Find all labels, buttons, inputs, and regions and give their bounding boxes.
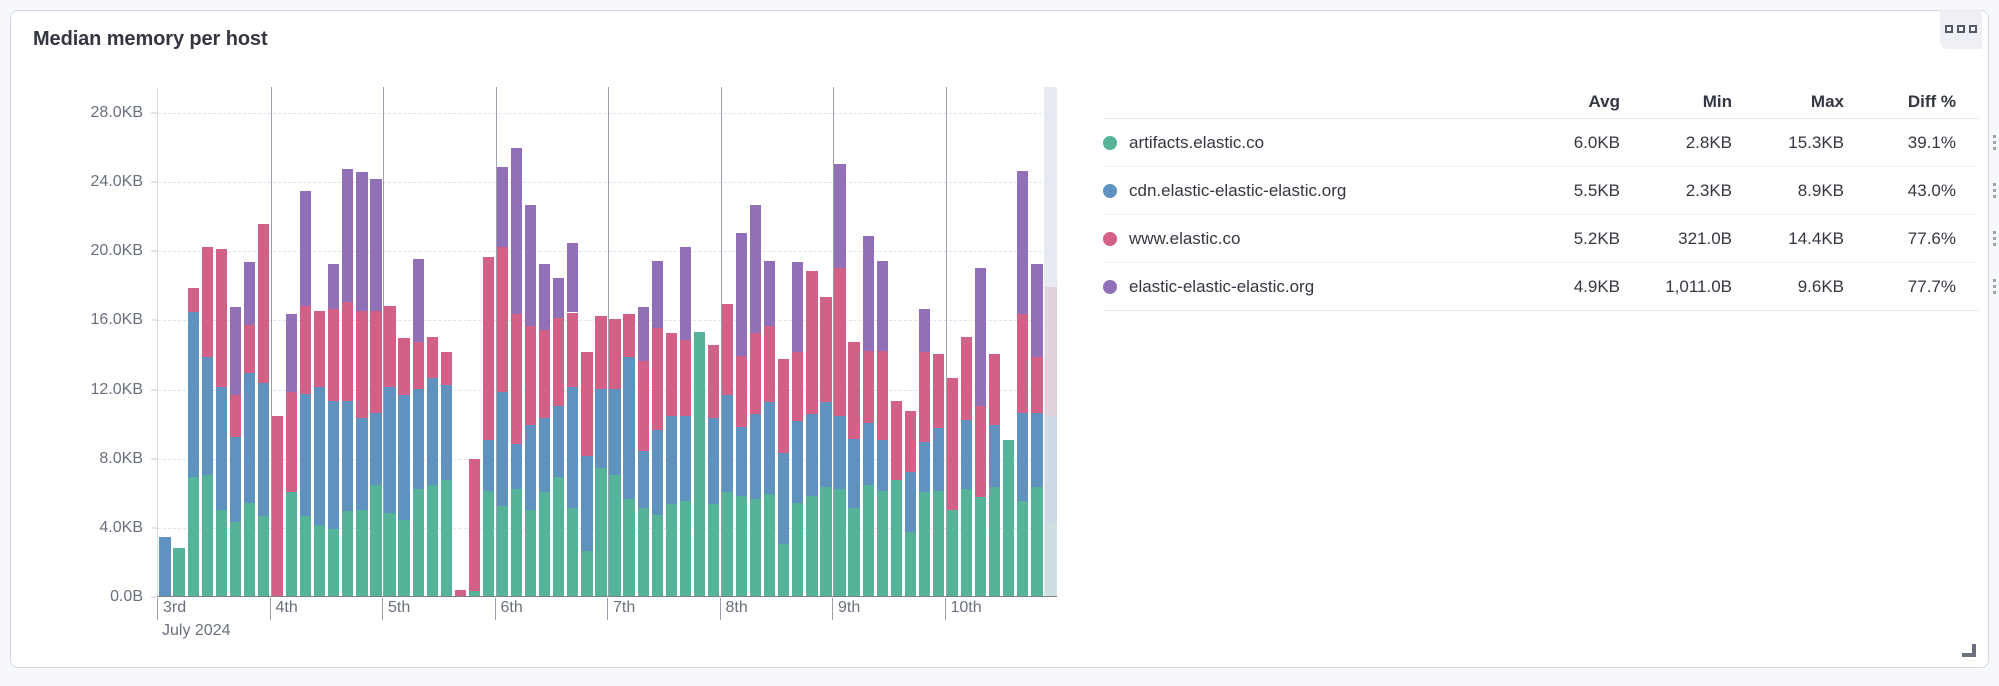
bar-segment[interactable] [202, 475, 213, 596]
bar-segment[interactable] [413, 342, 424, 389]
bar-stack[interactable] [1003, 440, 1014, 596]
bar-segment[interactable] [722, 395, 733, 492]
bar-stack[interactable] [792, 262, 803, 596]
bar-segment[interactable] [919, 442, 930, 492]
legend-series-label: elastic-elastic-elastic.org [1129, 277, 1314, 297]
bar-stack[interactable] [539, 264, 550, 596]
bar-stack[interactable] [441, 352, 452, 596]
bar-stack[interactable] [750, 205, 761, 596]
bar-stack[interactable] [595, 316, 606, 596]
bar-stack[interactable] [736, 233, 747, 596]
bar-segment[interactable] [539, 492, 550, 596]
bar-segment[interactable] [834, 164, 845, 268]
bar-segment[interactable] [497, 392, 508, 506]
bar-segment[interactable] [919, 309, 930, 352]
legend-series-name-cell[interactable]: cdn.elastic-elastic-elastic.org [1103, 181, 1508, 201]
bar-segment[interactable] [553, 278, 564, 318]
legend-row[interactable]: www.elastic.co5.2KB321.0B14.4KB77.6% [1103, 215, 1978, 263]
legend-row-grip-cell [1956, 182, 1999, 200]
legend-row[interactable]: artifacts.elastic.co6.0KB2.8KB15.3KB39.1… [1103, 119, 1978, 167]
bar-segment[interactable] [750, 499, 761, 596]
bar-stack[interactable] [427, 337, 438, 596]
series-color-dot-icon [1103, 280, 1117, 294]
bar-segment[interactable] [891, 401, 902, 481]
legend-series-name-cell[interactable]: www.elastic.co [1103, 229, 1508, 249]
bar-segment[interactable] [638, 508, 649, 596]
bar-segment[interactable] [511, 489, 522, 596]
bar-stack[interactable] [455, 590, 466, 596]
bar-segment[interactable] [989, 354, 1000, 425]
bar-segment[interactable] [567, 508, 578, 596]
bar-segment[interactable] [483, 440, 494, 490]
bar-segment[interactable] [792, 262, 803, 352]
bar-stack[interactable] [919, 309, 930, 596]
bar-segment[interactable] [286, 392, 297, 492]
bar-stack[interactable] [244, 262, 255, 596]
bar-segment[interactable] [539, 418, 550, 492]
bar-segment[interactable] [623, 314, 634, 357]
bar-stack[interactable] [877, 261, 888, 596]
bar-segment[interactable] [553, 406, 564, 477]
bar-stack[interactable] [272, 416, 283, 596]
bar-segment[interactable] [216, 249, 227, 387]
legend-header-max[interactable]: Max [1732, 92, 1844, 112]
bar-stack[interactable] [989, 354, 1000, 596]
bar-segment[interactable] [511, 444, 522, 489]
resize-corner-icon[interactable] [1962, 643, 1976, 657]
bar-stack[interactable] [933, 354, 944, 596]
bar-stack[interactable] [384, 306, 395, 596]
bar-segment[interactable] [623, 499, 634, 596]
bar-segment[interactable] [975, 406, 986, 498]
stacked-bar-chart[interactable]: 28.0KB24.0KB20.0KB16.0KB12.0KB8.0KB4.0KB… [29, 67, 1079, 647]
bar-segment[interactable] [497, 506, 508, 596]
bar-segment[interactable] [511, 148, 522, 314]
bar-stack[interactable] [609, 319, 620, 596]
bar-segment[interactable] [961, 420, 972, 489]
bar-segment[interactable] [863, 351, 874, 424]
legend-table-header: Avg Min Max Diff % [1103, 83, 1978, 119]
bar-segment[interactable] [638, 307, 649, 361]
bar-segment[interactable] [525, 326, 536, 425]
bar-segment[interactable] [764, 494, 775, 596]
bar-stack[interactable] [328, 264, 339, 596]
bar-stack[interactable] [623, 314, 634, 596]
bar-segment[interactable] [947, 378, 958, 509]
bar-segment[interactable] [609, 319, 620, 388]
bar-segment[interactable] [863, 485, 874, 596]
drag-handle-icon[interactable] [1993, 279, 1999, 294]
bar-segment[interactable] [863, 236, 874, 350]
bar-stack[interactable] [1031, 264, 1042, 596]
bar-stack[interactable] [975, 268, 986, 596]
bar-stack[interactable] [188, 288, 199, 596]
bar-segment[interactable] [666, 416, 677, 504]
bar-stack[interactable] [848, 342, 859, 596]
bar-segment[interactable] [905, 411, 916, 472]
bar-stack[interactable] [722, 304, 733, 596]
bar-segment[interactable] [609, 389, 620, 475]
bar-stack[interactable] [356, 172, 367, 596]
legend-row-grip-cell [1956, 278, 1999, 296]
bar-segment[interactable] [370, 311, 381, 413]
y-axis-tick-label: 0.0B [110, 588, 143, 606]
bar-segment[interactable] [975, 497, 986, 596]
bar-segment[interactable] [300, 191, 311, 305]
bar-segment[interactable] [314, 387, 325, 525]
bar-segment[interactable] [427, 337, 438, 378]
bar-segment[interactable] [877, 351, 888, 441]
bar-segment[interactable] [328, 529, 339, 596]
legend-header-min[interactable]: Min [1620, 92, 1732, 112]
bar-segment[interactable] [427, 378, 438, 485]
bar-segment[interactable] [286, 492, 297, 596]
bar-segment[interactable] [525, 205, 536, 326]
bar-segment[interactable] [370, 485, 381, 596]
legend-cell-diff: 77.7% [1844, 277, 1956, 297]
bar-segment[interactable] [750, 333, 761, 414]
bar-segment[interactable] [1031, 357, 1042, 412]
bar-segment[interactable] [230, 395, 241, 436]
drag-handle-icon[interactable] [1993, 231, 1999, 246]
bar-segment[interactable] [834, 416, 845, 489]
bar-stack[interactable] [820, 297, 831, 596]
bar-segment[interactable] [328, 264, 339, 309]
bar-stack[interactable] [342, 169, 353, 596]
bar-segment[interactable] [497, 247, 508, 392]
bar-stack[interactable] [258, 224, 269, 596]
bar-segment[interactable] [680, 340, 691, 416]
bar-segment[interactable] [764, 402, 775, 494]
bar-segment[interactable] [553, 477, 564, 596]
bar-segment[interactable] [356, 418, 367, 510]
bar-segment[interactable] [806, 414, 817, 495]
bar-segment[interactable] [666, 333, 677, 416]
drag-handle-icon[interactable] [1993, 135, 1999, 150]
bar-segment[interactable] [497, 167, 508, 247]
bar-segment[interactable] [891, 480, 902, 596]
bar-segment[interactable] [328, 401, 339, 529]
bar-segment[interactable] [539, 330, 550, 418]
bar-segment[interactable] [258, 516, 269, 596]
bar-segment[interactable] [1017, 171, 1028, 314]
y-axis-tick-label: 8.0KB [99, 450, 143, 468]
bar-stack[interactable] [216, 249, 227, 596]
bar-segment[interactable] [877, 261, 888, 351]
bar-segment[interactable] [1031, 487, 1042, 596]
bar-stack[interactable] [230, 307, 241, 596]
bar-segment[interactable] [427, 485, 438, 596]
bar-stack[interactable] [778, 359, 789, 596]
bar-segment[interactable] [919, 352, 930, 442]
bar-segment[interactable] [1031, 413, 1042, 487]
bar-segment[interactable] [244, 262, 255, 324]
bar-segment[interactable] [441, 352, 452, 385]
bar-segment[interactable] [989, 425, 1000, 487]
bar-stack[interactable] [581, 352, 592, 596]
bar-segment[interactable] [286, 314, 297, 392]
legend-row[interactable]: elastic-elastic-elastic.org4.9KB1,011.0B… [1103, 263, 1978, 311]
bar-segment[interactable] [877, 491, 888, 596]
bar-segment[interactable] [567, 387, 578, 508]
bar-stack[interactable] [567, 243, 578, 596]
bar-segment[interactable] [736, 233, 747, 356]
bar-segment[interactable] [455, 590, 466, 596]
bar-segment[interactable] [1017, 314, 1028, 413]
bar-segment[interactable] [638, 361, 649, 451]
bar-segment[interactable] [750, 205, 761, 333]
bar-segment[interactable] [384, 513, 395, 596]
plot-area[interactable] [157, 87, 1057, 597]
bar-segment[interactable] [342, 511, 353, 596]
bar-segment[interactable] [216, 387, 227, 510]
bar-stack[interactable] [947, 378, 958, 596]
bar-stack[interactable] [806, 271, 817, 596]
bar-segment[interactable] [736, 427, 747, 496]
bar-segment[interactable] [173, 548, 184, 596]
bar-segment[interactable] [413, 389, 424, 489]
bar-segment[interactable] [370, 179, 381, 310]
bar-segment[interactable] [272, 416, 283, 596]
legend-header-avg[interactable]: Avg [1508, 92, 1620, 112]
bar-segment[interactable] [778, 359, 789, 452]
bar-segment[interactable] [652, 515, 663, 596]
bar-segment[interactable] [694, 332, 705, 597]
legend-header-diff[interactable]: Diff % [1844, 92, 1956, 112]
bar-segment[interactable] [820, 402, 831, 487]
bar-segment[interactable] [834, 489, 845, 596]
legend-series-name-cell[interactable]: artifacts.elastic.co [1103, 133, 1508, 153]
bar-segment[interactable] [314, 311, 325, 387]
bar-stack[interactable] [497, 167, 508, 596]
bar-segment[interactable] [202, 357, 213, 475]
legend-cell-avg: 5.5KB [1508, 181, 1620, 201]
bar-segment[interactable] [905, 472, 916, 533]
bar-segment[interactable] [652, 261, 663, 328]
bar-stack[interactable] [680, 247, 691, 596]
bar-segment[interactable] [877, 440, 888, 490]
bar-segment[interactable] [595, 389, 606, 469]
bar-stack[interactable] [1017, 171, 1028, 596]
bar-segment[interactable] [567, 243, 578, 312]
bar-segment[interactable] [398, 520, 409, 596]
bar-segment[interactable] [356, 172, 367, 310]
bar-segment[interactable] [722, 492, 733, 596]
bar-segment[interactable] [820, 487, 831, 596]
bar-segment[interactable] [356, 510, 367, 596]
bar-segment[interactable] [778, 453, 789, 545]
bar-segment[interactable] [188, 312, 199, 476]
bar-segment[interactable] [441, 385, 452, 480]
bar-segment[interactable] [384, 306, 395, 387]
bar-segment[interactable] [370, 413, 381, 486]
bar-stack[interactable] [553, 278, 564, 596]
bar-segment[interactable] [736, 496, 747, 596]
bar-segment[interactable] [863, 423, 874, 485]
bar-segment[interactable] [1017, 413, 1028, 501]
bar-segment[interactable] [623, 357, 634, 499]
drag-handle-icon[interactable] [1993, 183, 1999, 198]
bar-segment[interactable] [441, 480, 452, 596]
legend-cell-min: 1,011.0B [1620, 277, 1732, 297]
bar-segment[interactable] [961, 489, 972, 596]
bar-stack[interactable] [863, 236, 874, 596]
bar-segment[interactable] [933, 354, 944, 428]
bar-segment[interactable] [159, 537, 170, 596]
bar-segment[interactable] [750, 414, 761, 499]
bar-stack[interactable] [370, 179, 381, 596]
bar-segment[interactable] [511, 314, 522, 444]
bar-segment[interactable] [188, 288, 199, 312]
bar-stack[interactable] [708, 345, 719, 596]
bar-segment[interactable] [384, 387, 395, 513]
bar-segment[interactable] [919, 492, 930, 596]
bar-stack[interactable] [666, 333, 677, 596]
bar-stack[interactable] [314, 311, 325, 596]
bar-segment[interactable] [483, 257, 494, 440]
bar-segment[interactable] [595, 316, 606, 389]
bar-segment[interactable] [652, 430, 663, 515]
bar-segment[interactable] [1017, 501, 1028, 596]
bar-segment[interactable] [398, 338, 409, 395]
bar-stack[interactable] [764, 261, 775, 596]
bar-segment[interactable] [680, 501, 691, 596]
bar-segment[interactable] [413, 259, 424, 342]
bar-segment[interactable] [609, 475, 620, 596]
bar-segment[interactable] [848, 439, 859, 508]
bar-segment[interactable] [933, 428, 944, 490]
bar-segment[interactable] [708, 345, 719, 418]
bar-segment[interactable] [581, 551, 592, 596]
day-separator [271, 87, 272, 596]
bar-stack[interactable] [694, 332, 705, 597]
bar-segment[interactable] [244, 373, 255, 503]
bar-stack[interactable] [638, 307, 649, 596]
bar-segment[interactable] [230, 437, 241, 522]
bar-segment[interactable] [638, 451, 649, 508]
bar-segment[interactable] [413, 489, 424, 596]
bar-segment[interactable] [216, 510, 227, 596]
panel-header: Median memory per host [11, 11, 1988, 67]
bar-segment[interactable] [483, 491, 494, 596]
bar-stack[interactable] [834, 164, 845, 596]
bar-segment[interactable] [1003, 440, 1014, 596]
bar-segment[interactable] [567, 313, 578, 387]
bar-stack[interactable] [511, 148, 522, 596]
bar-segment[interactable] [300, 306, 311, 394]
bar-segment[interactable] [553, 318, 564, 406]
bar-segment[interactable] [792, 503, 803, 596]
bar-segment[interactable] [314, 525, 325, 596]
bar-segment[interactable] [708, 504, 719, 596]
legend-series-label: www.elastic.co [1129, 229, 1240, 249]
bar-segment[interactable] [680, 416, 691, 501]
bar-segment[interactable] [1031, 264, 1042, 357]
bar-segment[interactable] [230, 307, 241, 395]
bar-segment[interactable] [230, 522, 241, 596]
bar-segment[interactable] [848, 508, 859, 596]
bar-segment[interactable] [652, 328, 663, 430]
legend-row[interactable]: cdn.elastic-elastic-elastic.org5.5KB2.3K… [1103, 167, 1978, 215]
bar-segment[interactable] [989, 487, 1000, 596]
bar-stack[interactable] [905, 411, 916, 596]
bar-segment[interactable] [469, 459, 480, 590]
bar-segment[interactable] [525, 425, 536, 510]
bar-segment[interactable] [300, 394, 311, 517]
x-axis-tick-label: 7th [607, 598, 635, 620]
bar-segment[interactable] [947, 510, 958, 596]
bar-stack[interactable] [398, 338, 409, 596]
bar-segment[interactable] [595, 468, 606, 596]
bar-stack[interactable] [413, 259, 424, 596]
bar-stack[interactable] [159, 537, 170, 596]
bar-segment[interactable] [342, 169, 353, 302]
bar-segment[interactable] [933, 491, 944, 596]
bar-segment[interactable] [581, 456, 592, 551]
bar-stack[interactable] [525, 205, 536, 596]
bar-segment[interactable] [806, 496, 817, 596]
bar-segment[interactable] [469, 591, 480, 596]
bar-segment[interactable] [975, 268, 986, 406]
bar-stack[interactable] [469, 459, 480, 596]
bar-segment[interactable] [244, 503, 255, 596]
bar-segment[interactable] [905, 532, 916, 596]
legend-row-grip-cell [1956, 230, 1999, 248]
bar-segment[interactable] [834, 268, 845, 417]
bar-segment[interactable] [820, 297, 831, 402]
bar-segment[interactable] [848, 342, 859, 439]
bar-segment[interactable] [539, 264, 550, 330]
bar-stack[interactable] [891, 401, 902, 596]
bar-segment[interactable] [300, 516, 311, 596]
bar-segment[interactable] [792, 421, 803, 502]
bar-segment[interactable] [680, 247, 691, 340]
bar-segment[interactable] [328, 309, 339, 401]
bar-segment[interactable] [356, 311, 367, 418]
bar-segment[interactable] [722, 304, 733, 396]
bar-stack[interactable] [300, 191, 311, 596]
bar-segment[interactable] [258, 224, 269, 383]
bar-segment[interactable] [806, 271, 817, 414]
bar-segment[interactable] [764, 261, 775, 327]
bar-segment[interactable] [342, 401, 353, 512]
bar-segment[interactable] [398, 395, 409, 519]
bar-stack[interactable] [652, 261, 663, 596]
bar-segment[interactable] [188, 477, 199, 596]
y-axis-tick-label: 24.0KB [91, 173, 143, 191]
bar-segment[interactable] [961, 337, 972, 420]
bar-segment[interactable] [581, 352, 592, 456]
three-squares-icon[interactable] [1940, 9, 1982, 49]
bar-segment[interactable] [792, 352, 803, 421]
bar-segment[interactable] [525, 510, 536, 596]
bar-segment[interactable] [764, 326, 775, 402]
bar-stack[interactable] [173, 548, 184, 596]
bar-stack[interactable] [286, 314, 297, 596]
bar-stack[interactable] [202, 247, 213, 596]
bar-segment[interactable] [258, 383, 269, 516]
bar-segment[interactable] [778, 544, 789, 596]
bar-stack[interactable] [483, 257, 494, 596]
bar-segment[interactable] [708, 418, 719, 504]
bar-segment[interactable] [736, 356, 747, 427]
bar-segment[interactable] [244, 325, 255, 373]
bar-stack[interactable] [961, 337, 972, 596]
bar-segment[interactable] [202, 247, 213, 358]
legend-series-name-cell[interactable]: elastic-elastic-elastic.org [1103, 277, 1508, 297]
bar-segment[interactable] [666, 504, 677, 596]
bar-segment[interactable] [342, 302, 353, 401]
